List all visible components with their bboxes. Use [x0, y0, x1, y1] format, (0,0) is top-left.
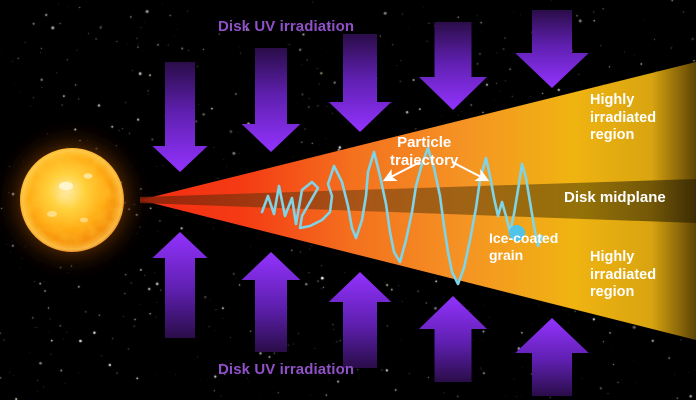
uv-arrow-down-4: [419, 22, 487, 110]
uv-arrow-down-3: [329, 34, 392, 132]
ice-coated-grain-label: Ice-coated grain: [489, 230, 558, 264]
uv-arrow-up-3: [329, 272, 392, 368]
central-star: [0, 122, 150, 278]
uv-irradiation-label-bottom: Disk UV irradiation: [218, 362, 354, 379]
particle-trajectory-label: Particle trajectory: [390, 134, 458, 170]
uv-arrow-down-5: [515, 10, 589, 88]
diagram-canvas: Disk UV irradiation Disk UV irradiation …: [0, 0, 696, 400]
uv-arrow-up-1: [152, 232, 207, 338]
star-plage-2: [84, 173, 93, 178]
uv-arrow-down-1: [152, 62, 207, 172]
highly-irradiated-region-label-bottom: Highly irradiated region: [590, 249, 656, 302]
star-limb: [20, 148, 124, 252]
uv-arrow-down-2: [242, 48, 301, 152]
star-plage-4: [80, 218, 88, 223]
star-plage-1: [59, 182, 73, 190]
star-plage-3: [47, 211, 57, 217]
highly-irradiated-region-label-top: Highly irradiated region: [590, 92, 656, 145]
disk-midplane-label: Disk midplane: [564, 190, 666, 207]
uv-arrow-up-2: [242, 252, 301, 352]
uv-irradiation-label-top: Disk UV irradiation: [218, 19, 354, 36]
uv-arrow-up-5: [515, 318, 589, 396]
uv-arrow-up-4: [419, 296, 487, 382]
